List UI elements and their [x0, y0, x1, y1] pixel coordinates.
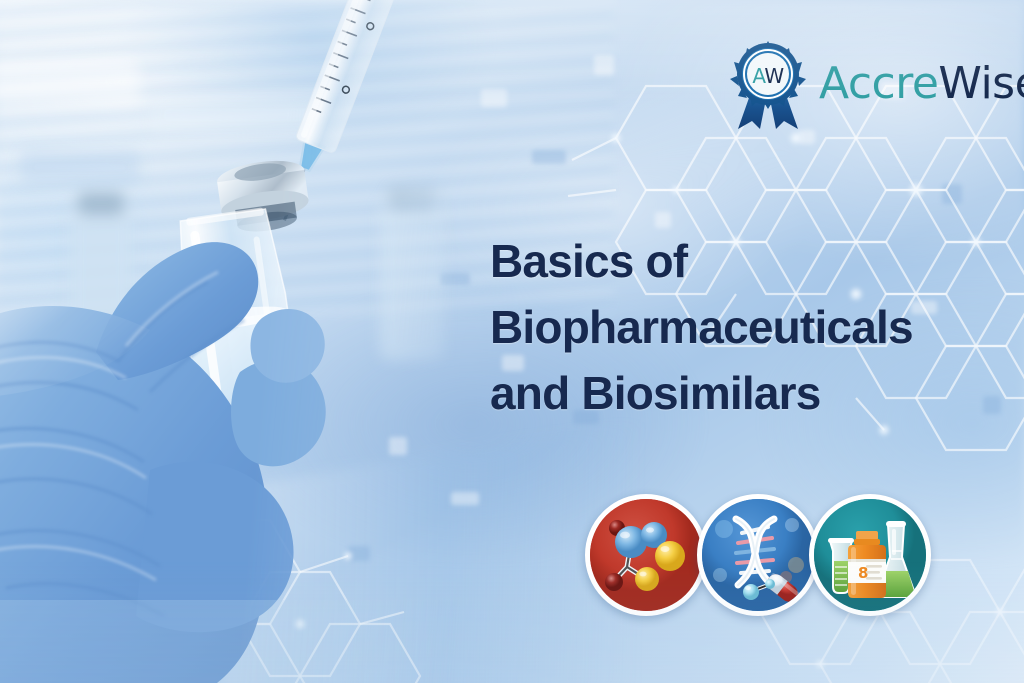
wordmark-wise: Wise	[938, 58, 1024, 109]
svg-text:AW: AW	[752, 64, 784, 88]
topic-icon-circles: 8	[585, 494, 931, 616]
wordmark-accre: Accre	[819, 58, 938, 109]
accrewise-logo[interactable]: AW AccreWise	[726, 41, 1024, 129]
accrewise-wordmark: AccreWise	[819, 62, 1024, 106]
molecule-circle[interactable]	[585, 494, 707, 616]
lab-circle[interactable]: 8	[809, 494, 931, 616]
award-rosette-badge-icon: AW	[726, 41, 810, 129]
banner-root: AW AccreWise Basics of Biopharmaceutical…	[0, 0, 1024, 683]
dna-circle[interactable]	[697, 494, 819, 616]
title-line-1: Basics of	[490, 228, 913, 294]
page-title: Basics of Biopharmaceuticals and Biosimi…	[490, 228, 913, 426]
title-line-3: and Biosimilars	[490, 360, 913, 426]
gloved-hand-holding-vial-with-syringe-photo	[0, 0, 470, 683]
title-line-2: Biopharmaceuticals	[490, 294, 913, 360]
